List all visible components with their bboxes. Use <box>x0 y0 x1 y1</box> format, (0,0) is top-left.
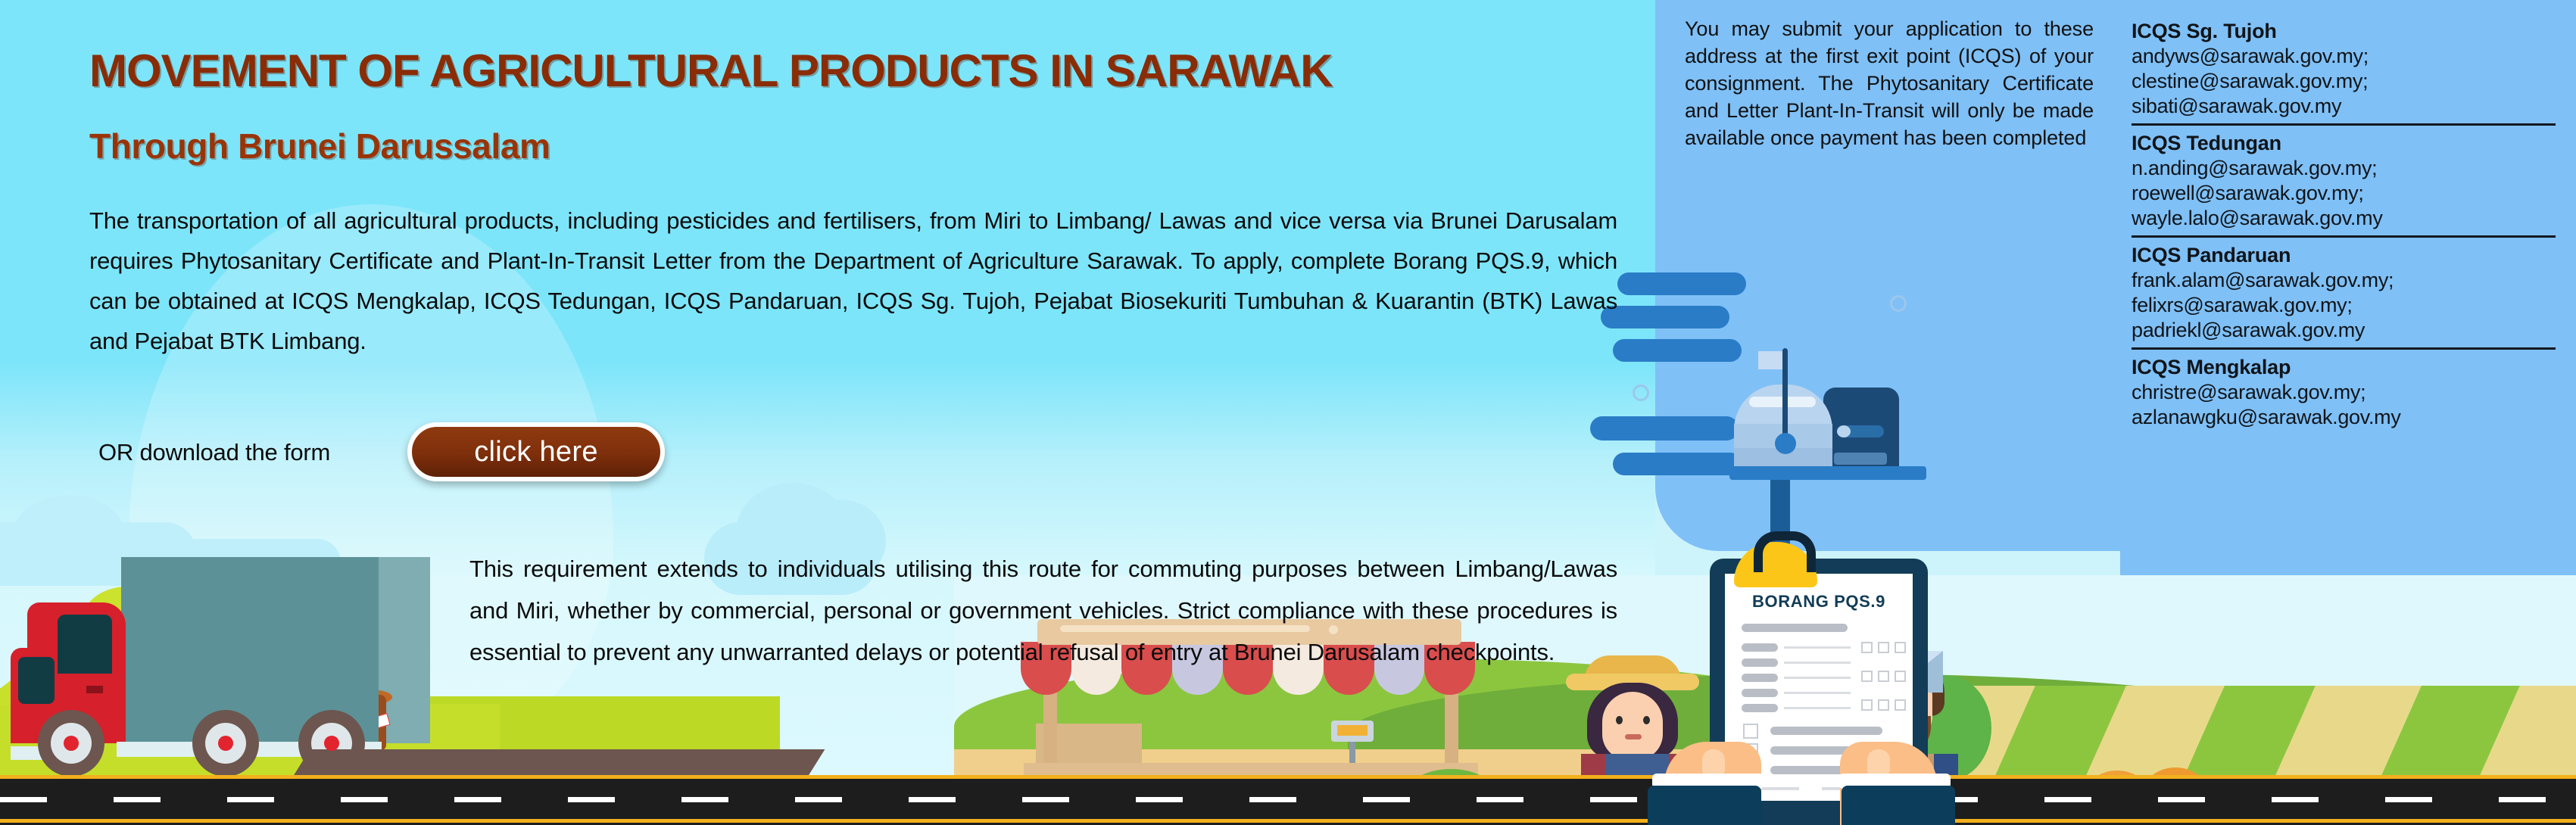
suit-sleeve <box>1842 786 1955 825</box>
contact-block: ICQS Pandaruan frank.alam@sarawak.gov.my… <box>2132 235 2556 346</box>
mailbox-slot-knob <box>1837 425 1851 437</box>
truck-window <box>18 657 55 704</box>
mailbox-flag <box>1758 351 1785 369</box>
weighing-scale-screen <box>1337 725 1368 736</box>
truck-wheel <box>38 710 104 777</box>
contact-email[interactable]: frank.alam@sarawak.gov.my; <box>2132 268 2556 293</box>
bubble-icon <box>1633 384 1649 401</box>
contact-email[interactable]: wayle.lalo@sarawak.gov.my <box>2132 206 2556 231</box>
infographic-banner: BORANG PQS.9 You may submit your applica… <box>0 0 2576 825</box>
bubble-icon <box>1890 295 1907 312</box>
mailbox-flag-knob <box>1775 433 1796 454</box>
contact-block: ICQS Tedungan n.anding@sarawak.gov.my; r… <box>2132 123 2556 234</box>
thumbnail-right <box>1867 749 1890 775</box>
page-title: MOVEMENT OF AGRICULTURAL PRODUCTS IN SAR… <box>89 47 1604 95</box>
mailbox-tray <box>1834 453 1887 465</box>
contact-office-name: ICQS Sg. Tujoh <box>2132 18 2556 44</box>
mailbox-base <box>1729 466 1926 480</box>
contact-office-name: ICQS Mengkalap <box>2132 354 2556 380</box>
contact-block: ICQS Sg. Tujoh andyws@sarawak.gov.my; cl… <box>2132 18 2556 122</box>
contact-office-name: ICQS Tedungan <box>2132 130 2556 156</box>
click-here-button[interactable]: click here <box>407 422 665 481</box>
contact-email[interactable]: clestine@sarawak.gov.my; <box>2132 69 2556 94</box>
truck-wheel <box>192 710 259 777</box>
contact-email[interactable]: sibati@sarawak.gov.my <box>2132 94 2556 119</box>
compliance-paragraph: This requirement extends to individuals … <box>469 548 1617 673</box>
intro-paragraph: The transportation of all agricultural p… <box>89 201 1617 361</box>
truck-mirror <box>56 674 73 699</box>
page-subtitle: Through Brunei Darussalam <box>89 127 550 165</box>
speed-line <box>1617 272 1746 295</box>
clipboard-clamp <box>1734 542 1817 587</box>
suit-sleeve <box>1648 786 1761 825</box>
truck-window <box>58 615 112 674</box>
download-label: OR download the form <box>98 437 330 468</box>
mailbox-illustration: BORANG PQS.9 <box>1651 318 1976 825</box>
contacts-list: ICQS Sg. Tujoh andyws@sarawak.gov.my; cl… <box>2132 18 2556 434</box>
contact-email[interactable]: padriekl@sarawak.gov.my <box>2132 318 2556 343</box>
truck-door-handle <box>86 686 103 693</box>
road-lane-dashes <box>0 797 2576 802</box>
contact-email[interactable]: andyws@sarawak.gov.my; <box>2132 44 2556 69</box>
speed-line <box>1601 306 1729 328</box>
contact-block: ICQS Mengkalap christre@sarawak.gov.my; … <box>2132 347 2556 433</box>
thumbnail-left <box>1702 749 1725 775</box>
speed-line <box>1590 416 1739 441</box>
speed-line <box>1613 453 1742 475</box>
contact-email[interactable]: felixrs@sarawak.gov.my; <box>2132 293 2556 318</box>
submission-note: You may submit your application to these… <box>1685 15 2094 151</box>
contact-email[interactable]: roewell@sarawak.gov.my; <box>2132 181 2556 206</box>
contact-email[interactable]: n.anding@sarawak.gov.my; <box>2132 156 2556 181</box>
form-title: BORANG PQS.9 <box>1710 592 1928 612</box>
mailbox-flag-pole <box>1782 348 1788 447</box>
contact-email[interactable]: christre@sarawak.gov.my; <box>2132 380 2556 405</box>
contact-email[interactable]: azlanawgku@sarawak.gov.my <box>2132 405 2556 430</box>
road-edge-line <box>0 819 2576 823</box>
contact-office-name: ICQS Pandaruan <box>2132 242 2556 268</box>
speed-line <box>1613 339 1742 362</box>
road-edge-line <box>0 775 2576 779</box>
